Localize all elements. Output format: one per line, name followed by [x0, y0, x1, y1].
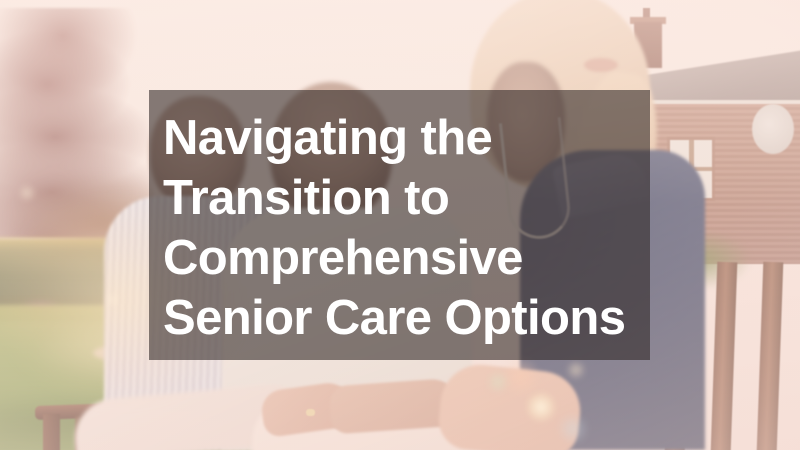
- page-title: Navigating the Transition to Comprehensi…: [163, 108, 650, 348]
- title-overlay-panel: Navigating the Transition to Comprehensi…: [149, 90, 650, 360]
- article-hero-banner: Navigating the Transition to Comprehensi…: [0, 0, 800, 450]
